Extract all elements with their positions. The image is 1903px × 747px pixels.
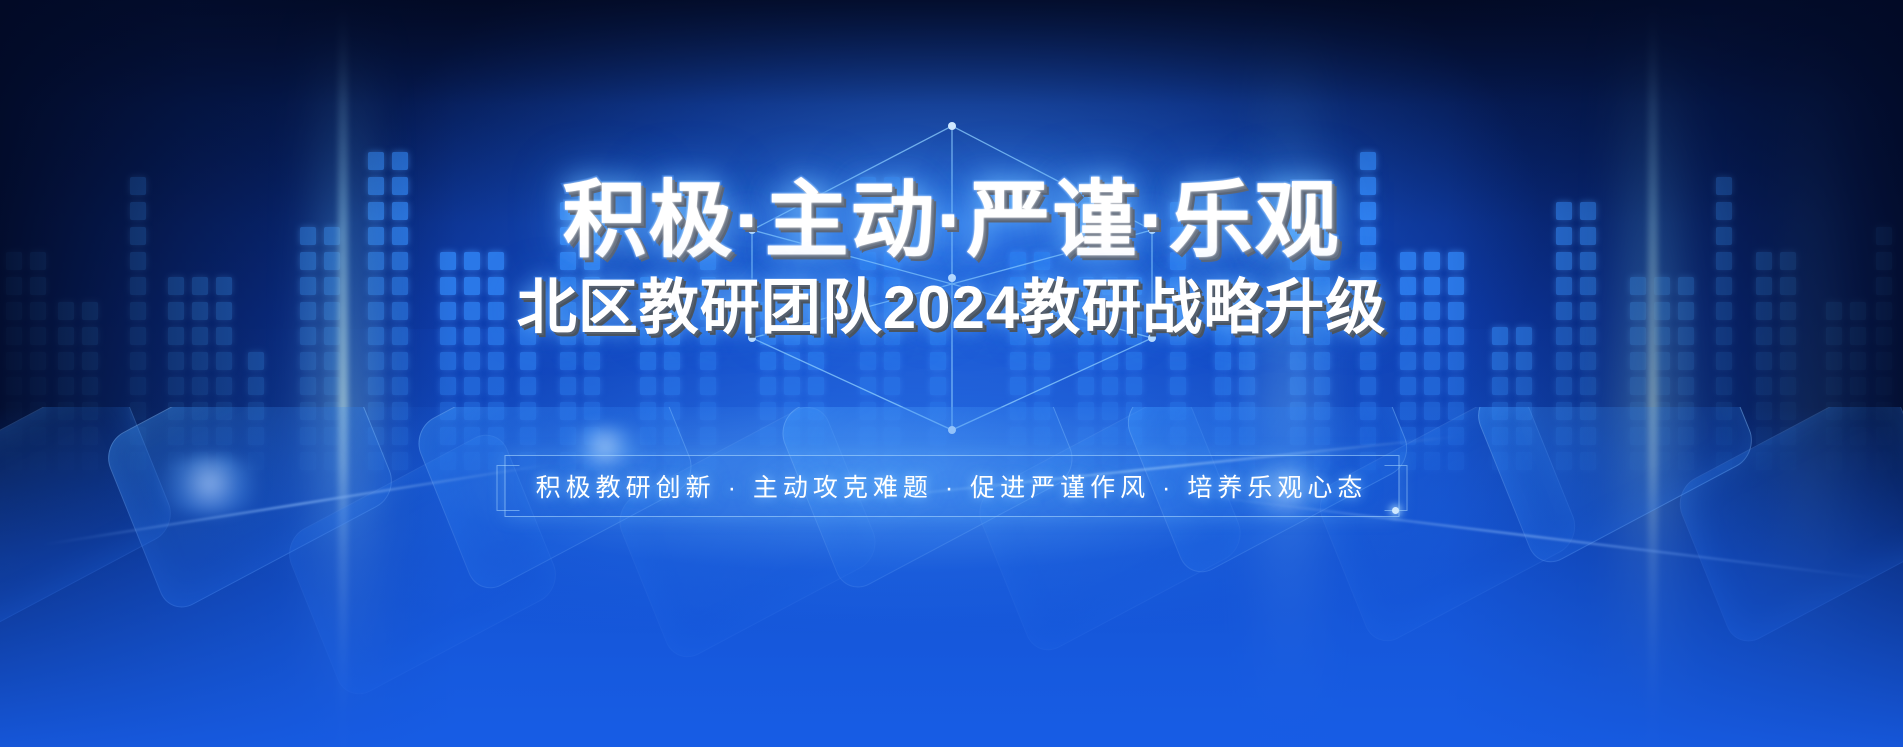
tagline-container: 积极教研创新 · 主动攻克难题 · 促进严谨作风 · 培养乐观心态 xyxy=(504,455,1399,517)
banner-content: 积极·主动·严谨·乐观 北区教研团队2024教研战略升级 xyxy=(0,0,1903,747)
banner-title: 积极·主动·严谨·乐观 xyxy=(563,178,1341,262)
banner-subtitle: 北区教研团队2024教研战略升级 xyxy=(517,278,1386,338)
banner-tagline: 积极教研创新 · 主动攻克难题 · 促进严谨作风 · 培养乐观心态 xyxy=(504,455,1399,517)
glow-node-right xyxy=(1392,507,1399,514)
promotional-banner: 积极·主动·严谨·乐观 北区教研团队2024教研战略升级 积极教研创新 · 主动… xyxy=(0,0,1903,747)
